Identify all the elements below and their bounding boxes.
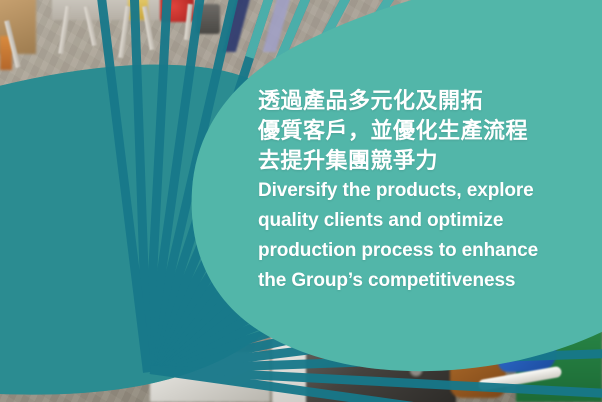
headline-en-line-3: production process to enhance [258,236,598,266]
headline-en-line-4: the Group’s competitiveness [258,266,598,296]
headline-text-block: 透過產品多元化及開拓 優質客戶，並優化生產流程 去提升集團競爭力 Diversi… [258,86,598,296]
headline-zh-line-3: 去提升集團競爭力 [258,146,598,176]
headline-zh-line-2: 優質客戶，並優化生產流程 [258,116,598,146]
headline-zh-line-1: 透過產品多元化及開拓 [258,86,598,116]
slide-canvas: 透過產品多元化及開拓 優質客戶，並優化生產流程 去提升集團競爭力 Diversi… [0,0,602,402]
headline-en-line-2: quality clients and optimize [258,206,598,236]
headline-en-line-1: Diversify the products, explore [258,176,598,206]
